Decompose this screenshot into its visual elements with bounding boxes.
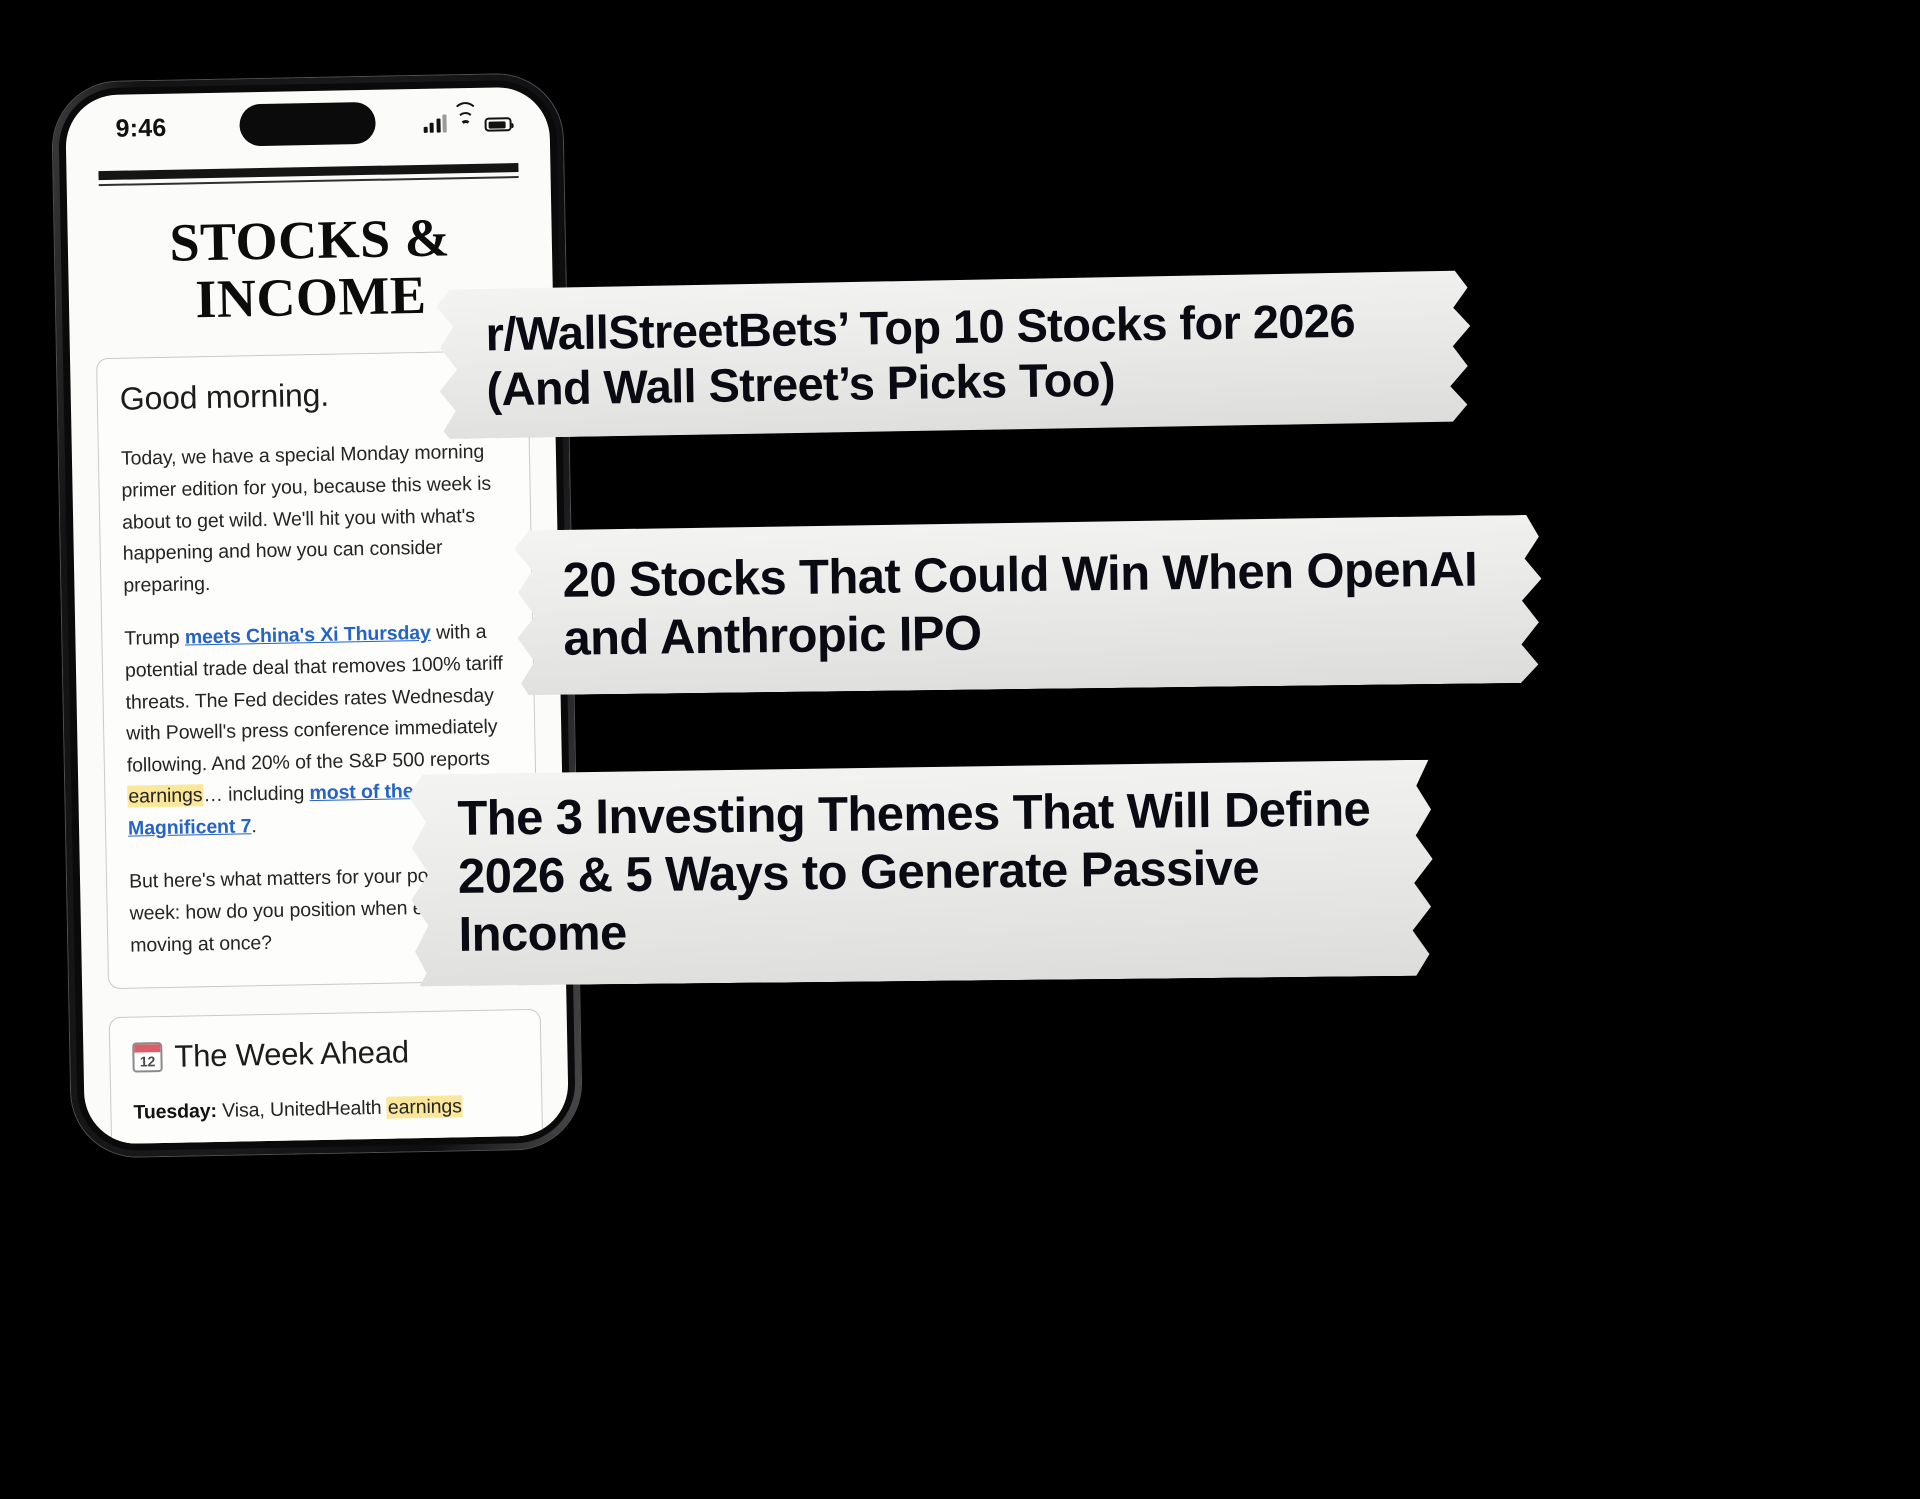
news-text-middle: … including xyxy=(203,782,310,806)
week-ahead-card: 12 The Week Ahead Tuesday: Visa, UnitedH… xyxy=(109,1009,547,1145)
phone-mockup: 9:46 STOCKS & INCOME Good morning. Today… xyxy=(52,73,583,1158)
headline-strip-1[interactable]: r/WallStreetBets’ Top 10 Stocks for 2026… xyxy=(433,269,1480,439)
tuesday-text: Visa, UnitedHealth xyxy=(217,1097,387,1122)
week-ahead-heading: 12 The Week Ahead xyxy=(132,1032,519,1075)
list-item: Tuesday: Visa, UnitedHealth earnings xyxy=(133,1090,520,1129)
headline-strip-2[interactable]: 20 Stocks That Could Win When OpenAI and… xyxy=(510,515,1550,696)
headline-strip-2-text: 20 Stocks That Could Win When OpenAI and… xyxy=(562,541,1503,668)
news-text-tail: . xyxy=(251,815,257,837)
tuesday-label: Tuesday: xyxy=(133,1100,217,1124)
calendar-day: 12 xyxy=(134,1053,160,1069)
phone-screen: 9:46 STOCKS & INCOME Good morning. Today… xyxy=(65,86,569,1144)
status-bar: 9:46 xyxy=(65,86,550,157)
dynamic-island xyxy=(239,102,376,147)
xi-meeting-link[interactable]: meets China's Xi Thursday xyxy=(185,622,431,649)
battery-icon xyxy=(484,117,511,132)
calendar-icon: 12 xyxy=(132,1042,163,1073)
headline-strip-3[interactable]: The 3 Investing Themes That Will Define … xyxy=(405,760,1442,987)
cellular-signal-icon xyxy=(423,114,447,132)
status-time: 9:46 xyxy=(115,114,166,144)
earnings-highlight-1: earnings xyxy=(127,784,203,807)
news-text-before: Trump xyxy=(124,627,185,650)
earnings-highlight-tuesday: earnings xyxy=(387,1095,463,1118)
status-indicators xyxy=(423,109,512,133)
wifi-icon xyxy=(454,114,476,132)
intro-paragraph: Today, we have a special Monday morning … xyxy=(121,437,510,602)
headline-strip-3-text: The 3 Investing Themes That Will Define … xyxy=(457,781,1396,964)
headline-strip-1-text: r/WallStreetBets’ Top 10 Stocks for 2026… xyxy=(485,291,1434,417)
week-ahead-title: The Week Ahead xyxy=(174,1034,409,1074)
